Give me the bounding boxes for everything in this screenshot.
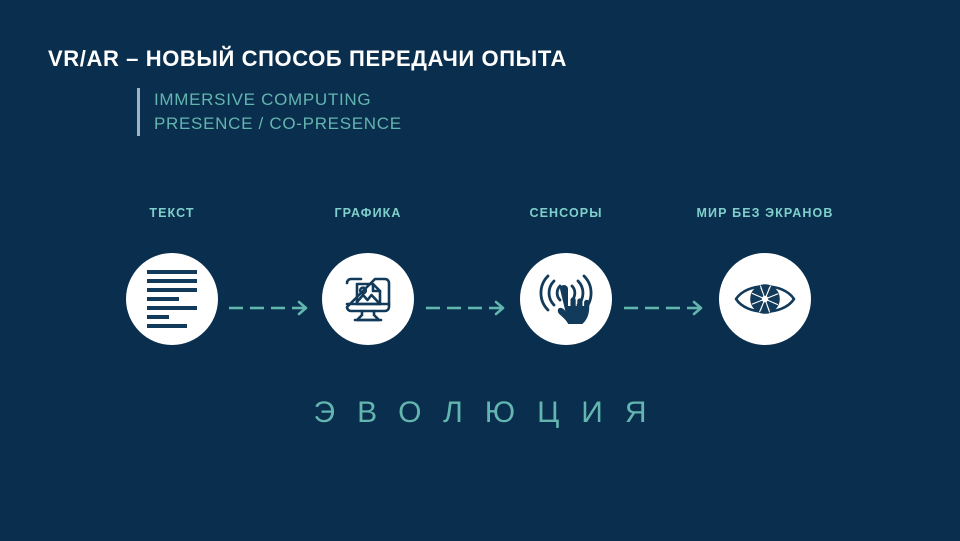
flow-stage-text: ТЕКСТ xyxy=(77,206,267,345)
monitor-image-icon xyxy=(338,269,398,329)
flow-stage-label: МИР БЕЗ ЭКРАНОВ xyxy=(670,206,860,222)
page-title: VR/AR – НОВЫЙ СПОСОБ ПЕРЕДАЧИ ОПЫТА xyxy=(48,46,567,72)
flow-stage-sensors: СЕНСОРЫ xyxy=(471,206,661,345)
flow-stage-label: СЕНСОРЫ xyxy=(471,206,661,222)
flow-stage-icon-circle xyxy=(322,253,414,345)
eye-aperture-icon xyxy=(734,277,796,321)
flow-stage-screenless-world: МИР БЕЗ ЭКРАНОВ xyxy=(670,206,860,345)
subtitle-line-1: IMMERSIVE COMPUTING xyxy=(154,88,402,112)
flow-stage-label: ГРАФИКА xyxy=(273,206,463,222)
slide-canvas: VR/AR – НОВЫЙ СПОСОБ ПЕРЕДАЧИ ОПЫТА IMME… xyxy=(0,0,960,541)
flow-stage-icon-circle xyxy=(520,253,612,345)
touch-signal-hand-icon xyxy=(535,267,597,331)
flow-stage-icon-circle xyxy=(719,253,811,345)
evolution-word: ЭВОЛЮЦИЯ xyxy=(0,396,960,430)
text-lines-icon xyxy=(147,270,197,328)
subtitle-accent-bar xyxy=(137,88,140,136)
evolution-flow: ТЕКСТ xyxy=(0,206,960,356)
subtitle-lines: IMMERSIVE COMPUTING PRESENCE / CO-PRESEN… xyxy=(154,88,402,136)
flow-stage-icon-circle xyxy=(126,253,218,345)
flow-stage-graphics: ГРАФИКА xyxy=(273,206,463,345)
subtitle-block: IMMERSIVE COMPUTING PRESENCE / CO-PRESEN… xyxy=(137,88,402,136)
subtitle-line-2: PRESENCE / CO-PRESENCE xyxy=(154,112,402,136)
flow-stage-label: ТЕКСТ xyxy=(77,206,267,222)
